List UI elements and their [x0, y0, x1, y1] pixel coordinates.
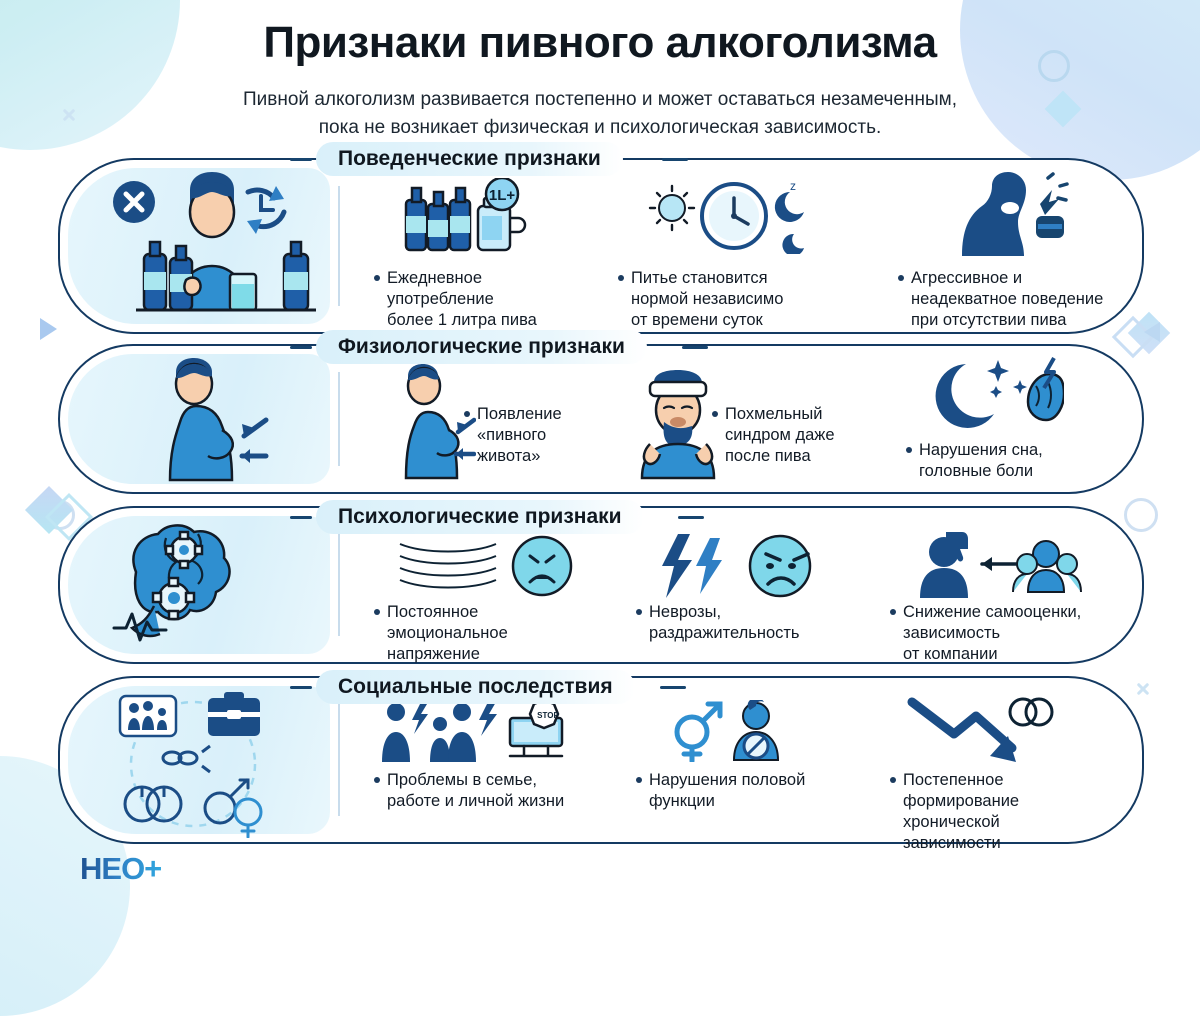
- badge-1l-plus: 1L+: [489, 187, 516, 204]
- section-title-text: Физиологические признаки: [338, 335, 625, 359]
- section-dash-right: [678, 516, 704, 519]
- section-dash-right: [662, 158, 688, 161]
- bullet-physiological-1: Появление «пивного живота»: [464, 404, 639, 467]
- section-title-text: Психологические признаки: [338, 505, 622, 529]
- section-header-physiological: Физиологические признаки: [316, 330, 647, 364]
- man-with-beer-bottles-icon: [98, 168, 330, 326]
- man-with-belly-icon: [140, 356, 270, 484]
- family-conflict-work-stop-icon: STOP: [374, 700, 574, 766]
- bullet-text: Постепенное формирование хронической зав…: [903, 770, 1019, 854]
- lightning-angry-face-icon: [658, 532, 818, 600]
- section-title-text: Социальные последствия: [338, 675, 613, 699]
- bullet-behavioral-1: Ежедневное употребление более 1 литра пи…: [374, 268, 604, 331]
- decor-triangle-left: [40, 318, 57, 340]
- section-title-text: Поведенческие признаки: [338, 147, 601, 171]
- bullet-social-2: Нарушения половой функции: [636, 770, 861, 812]
- bullet-psychological-1: Постоянное эмоциональное напряжение: [374, 602, 594, 665]
- bullet-dot: [464, 411, 470, 417]
- bullet-social-3: Постепенное формирование хронической зав…: [890, 770, 1120, 854]
- beer-belly-profile-icon: [384, 362, 476, 482]
- brand-logo: НЕО+: [80, 851, 161, 887]
- bullet-dot: [374, 609, 380, 615]
- gender-symbol-blocked-icon: [668, 700, 798, 762]
- bullet-dot: [890, 609, 896, 615]
- bullet-dot: [374, 777, 380, 783]
- bullet-text: Проблемы в семье, работе и личной жизни: [387, 770, 564, 812]
- bullet-psychological-3: Снижение самооценки, зависимость от комп…: [890, 602, 1140, 665]
- bullet-text: Неврозы, раздражительность: [649, 602, 800, 644]
- section-divider: [338, 704, 340, 816]
- aggressive-shouting-man-icon: [940, 172, 1080, 258]
- bullet-text: Питье становится нормой независимо от вр…: [631, 268, 783, 331]
- section-dash-right: [682, 346, 708, 349]
- decor-ring-right: [1124, 498, 1158, 532]
- beer-bottles-1l-plus-icon: 1L+: [398, 178, 528, 256]
- broken-chain-family-work-icon: [98, 692, 288, 838]
- bullet-text: Агрессивное и неадекватное поведение при…: [911, 268, 1103, 331]
- bullet-physiological-3: Нарушения сна, головные боли: [906, 440, 1106, 482]
- bullet-dot: [890, 777, 896, 783]
- section-header-social: Социальные последствия: [316, 670, 635, 704]
- section-dash-left: [290, 516, 312, 519]
- bullet-text: Похмельный синдром даже после пива: [725, 404, 835, 467]
- bullet-dot: [374, 275, 380, 281]
- section-dash-left: [290, 346, 312, 349]
- decor-diamond-left-filled: [25, 486, 73, 534]
- page-title: Признаки пивного алкоголизма: [0, 18, 1200, 68]
- section-divider: [338, 534, 340, 636]
- page-subtitle: Пивной алкоголизм развивается постепенно…: [0, 86, 1200, 142]
- bullet-text: Постоянное эмоциональное напряжение: [387, 602, 508, 665]
- thumbs-down-group-icon: [906, 530, 1086, 600]
- decor-sparkle-right: [1126, 672, 1160, 706]
- bullet-dot: [712, 411, 718, 417]
- downward-arrow-rings-icon: [906, 696, 1056, 764]
- bullet-text: Нарушения сна, головные боли: [919, 440, 1043, 482]
- bullet-physiological-2: Похмельный синдром даже после пива: [712, 404, 897, 467]
- svg-text:STOP: STOP: [537, 711, 559, 720]
- bullet-psychological-2: Неврозы, раздражительность: [636, 602, 866, 644]
- bullet-text: Снижение самооценки, зависимость от комп…: [903, 602, 1081, 665]
- bullet-text: Ежедневное употребление более 1 литра пи…: [387, 268, 537, 331]
- section-divider: [338, 186, 340, 306]
- svg-text:z: z: [790, 180, 796, 193]
- bullet-dot: [636, 609, 642, 615]
- section-header-psychological: Психологические признаки: [316, 500, 644, 534]
- clock-day-night-icon: z: [642, 180, 822, 254]
- tense-worried-face-icon: [396, 534, 586, 598]
- page-subtitle-line-2: пока не возникает физическая и психологи…: [0, 114, 1200, 142]
- section-dash-left: [290, 686, 312, 689]
- bullet-behavioral-2: Питье становится нормой независимо от вр…: [618, 268, 868, 331]
- section-dash-left: [290, 158, 312, 161]
- section-dash-right: [660, 686, 686, 689]
- bullet-dot: [906, 447, 912, 453]
- decor-ring-left: [45, 500, 75, 530]
- bullet-dot: [618, 275, 624, 281]
- bullet-dot: [636, 777, 642, 783]
- section-divider: [338, 372, 340, 466]
- brain-with-gears-icon: [108, 524, 278, 648]
- bullet-dot: [898, 275, 904, 281]
- bullet-text: Появление «пивного живота»: [477, 404, 562, 467]
- infographic-canvas: Признаки пивного алкоголизма Пивной алко…: [0, 0, 1200, 896]
- bullet-text: Нарушения половой функции: [649, 770, 805, 812]
- page-subtitle-line-1: Пивной алкоголизм развивается постепенно…: [0, 86, 1200, 114]
- bullet-behavioral-3: Агрессивное и неадекватное поведение при…: [898, 268, 1160, 331]
- bullet-social-1: Проблемы в семье, работе и личной жизни: [374, 770, 614, 812]
- section-header-behavioral: Поведенческие признаки: [316, 142, 623, 176]
- moon-stars-brain-icon: [924, 356, 1064, 436]
